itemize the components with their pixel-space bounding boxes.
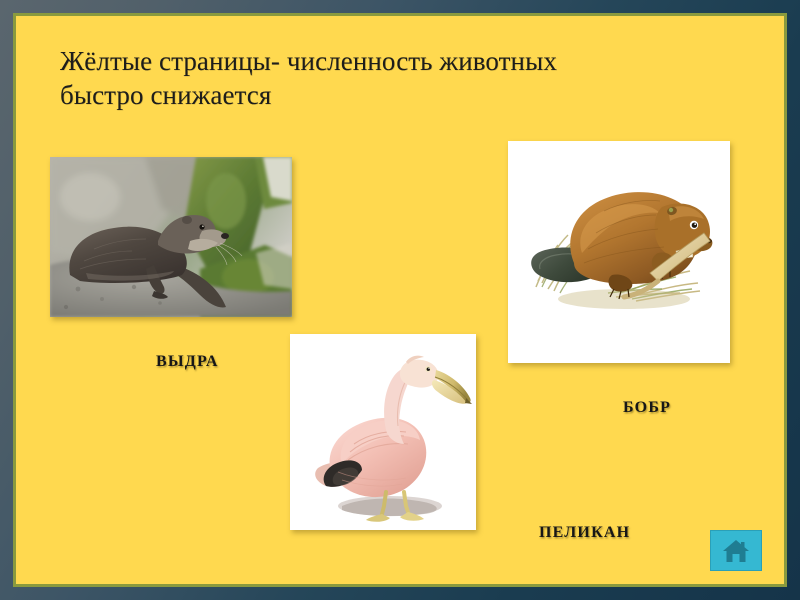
pelican-illustration (290, 334, 476, 530)
picture-card-pelican[interactable] (290, 334, 476, 530)
home-icon (721, 538, 751, 564)
home-button[interactable] (710, 530, 762, 571)
otter-photo (50, 157, 292, 317)
species-label-otter: ВЫДРА (156, 353, 219, 371)
picture-card-beaver[interactable] (508, 141, 730, 363)
picture-card-otter[interactable] (50, 157, 292, 317)
page-title: Жёлтые страницы- численность животных бы… (60, 44, 710, 112)
slide-frame: Жёлтые страницы- численность животных бы… (0, 0, 800, 600)
slide-canvas: Жёлтые страницы- численность животных бы… (16, 16, 784, 584)
beaver-illustration (508, 141, 730, 363)
species-label-beaver: БОБР (623, 399, 671, 417)
species-label-pelican: ПЕЛИКАН (539, 524, 630, 542)
